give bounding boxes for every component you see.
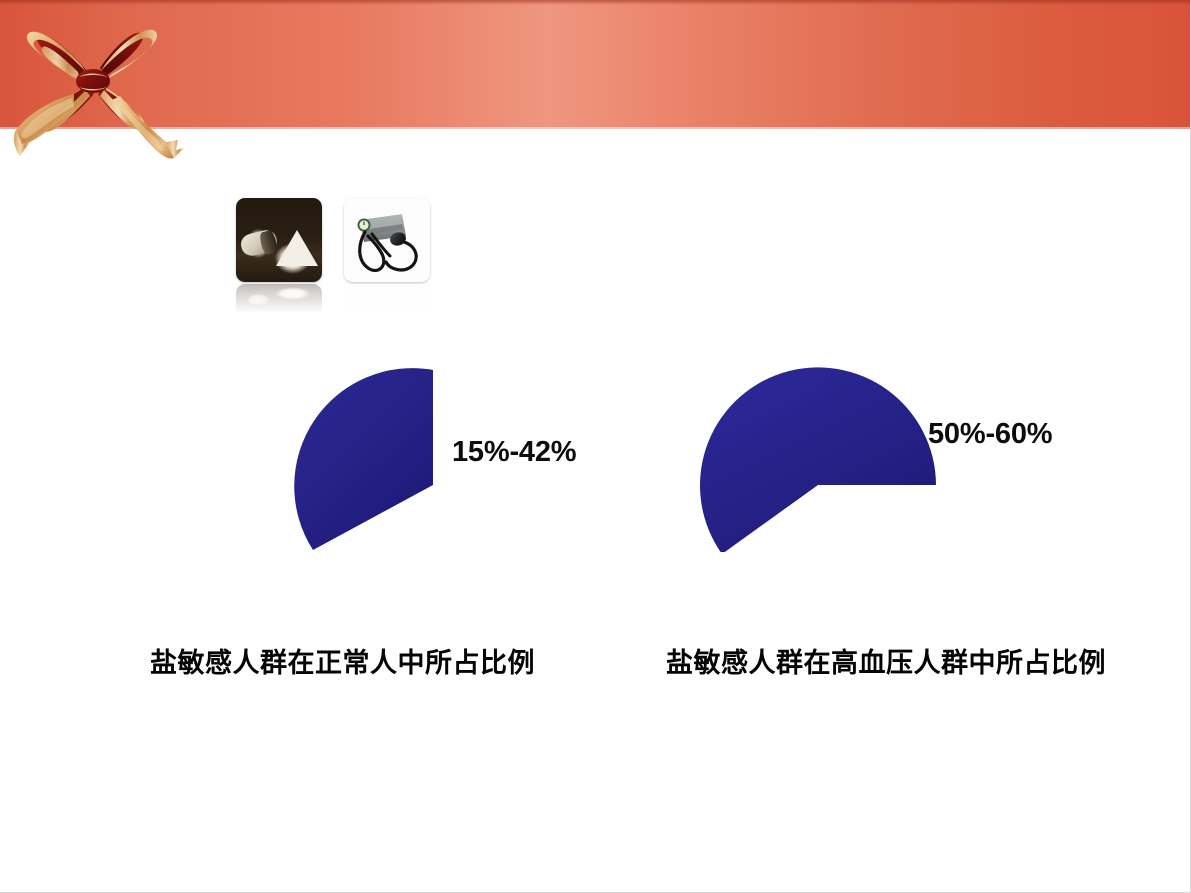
salt-pile: [276, 230, 318, 266]
bp-photo-frame: [344, 198, 430, 282]
pie-label-hypertensive-population: 50%-60%: [928, 418, 1052, 451]
bp-image-content: [344, 198, 430, 282]
caption-normal-population: 盐敏感人群在正常人中所占比例: [150, 641, 535, 680]
photo-row: [236, 198, 430, 282]
gift-bow-icon: [8, 8, 198, 168]
salt-image-content: [236, 198, 322, 282]
bp-photo-reflection: [344, 284, 430, 318]
pie-chart-hypertensive-population: [700, 362, 940, 552]
pie-slice-salt-sensitive: [700, 367, 936, 552]
salt-photo: [236, 198, 322, 282]
caption-hypertensive-population: 盐敏感人群在高血压人群中所占比例: [666, 641, 1106, 680]
salt-photo-reflection: [236, 284, 322, 318]
salt-photo-frame: [236, 198, 322, 282]
presentation-slide: 15%-42% 50%-60% 盐敏感人群在正常人中所占比例 盐敏感人群在高血压…: [0, 0, 1191, 893]
pie-slice-salt-sensitive: [294, 368, 433, 550]
pie-chart-normal-population: [270, 365, 450, 560]
blood-pressure-monitor-photo: [344, 198, 430, 282]
pie-label-normal-population: 15%-42%: [452, 436, 576, 469]
